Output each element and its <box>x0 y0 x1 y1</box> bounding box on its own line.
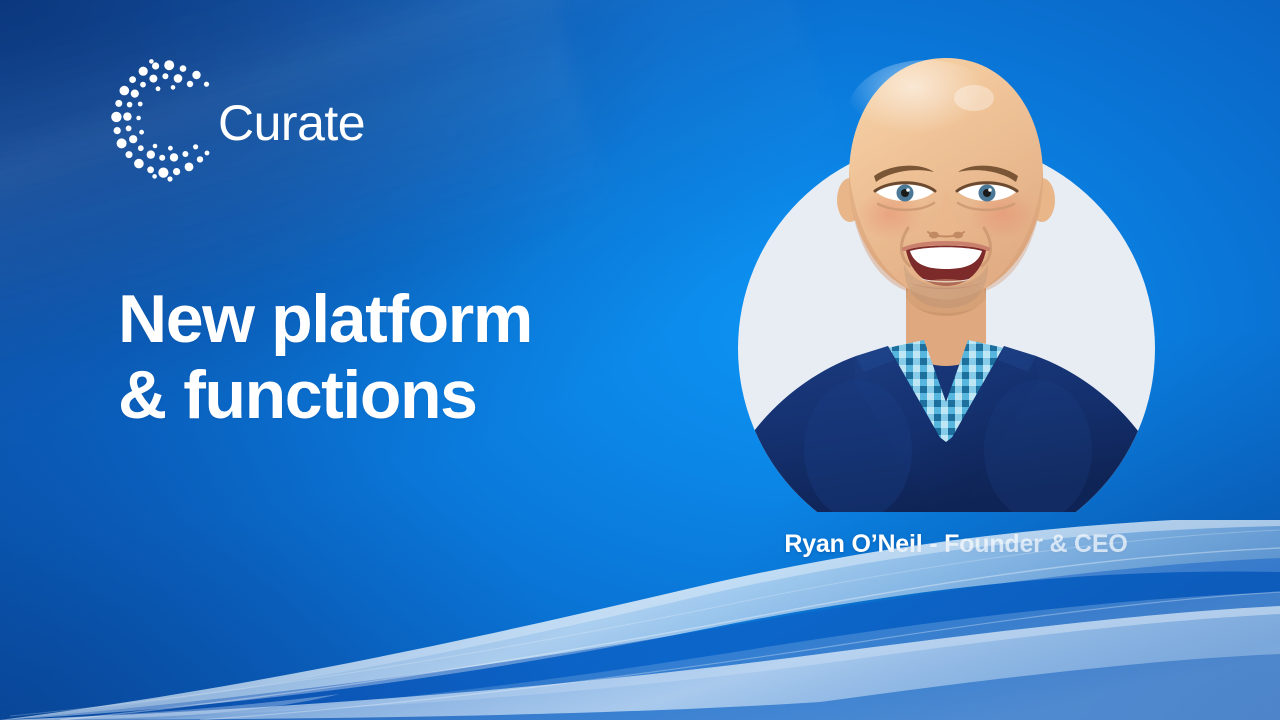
presentation-slide: Curate New platform & functions <box>0 0 1280 720</box>
curate-dotted-c-icon <box>110 58 222 190</box>
speaker-portrait-photo <box>738 50 1155 512</box>
speaker-caption: Ryan O’Neil - Founder & CEO <box>766 530 1146 559</box>
slide-headline: New platform & functions <box>118 281 532 433</box>
curate-wordmark: Curate <box>218 98 365 148</box>
curate-logo: Curate <box>110 58 320 190</box>
